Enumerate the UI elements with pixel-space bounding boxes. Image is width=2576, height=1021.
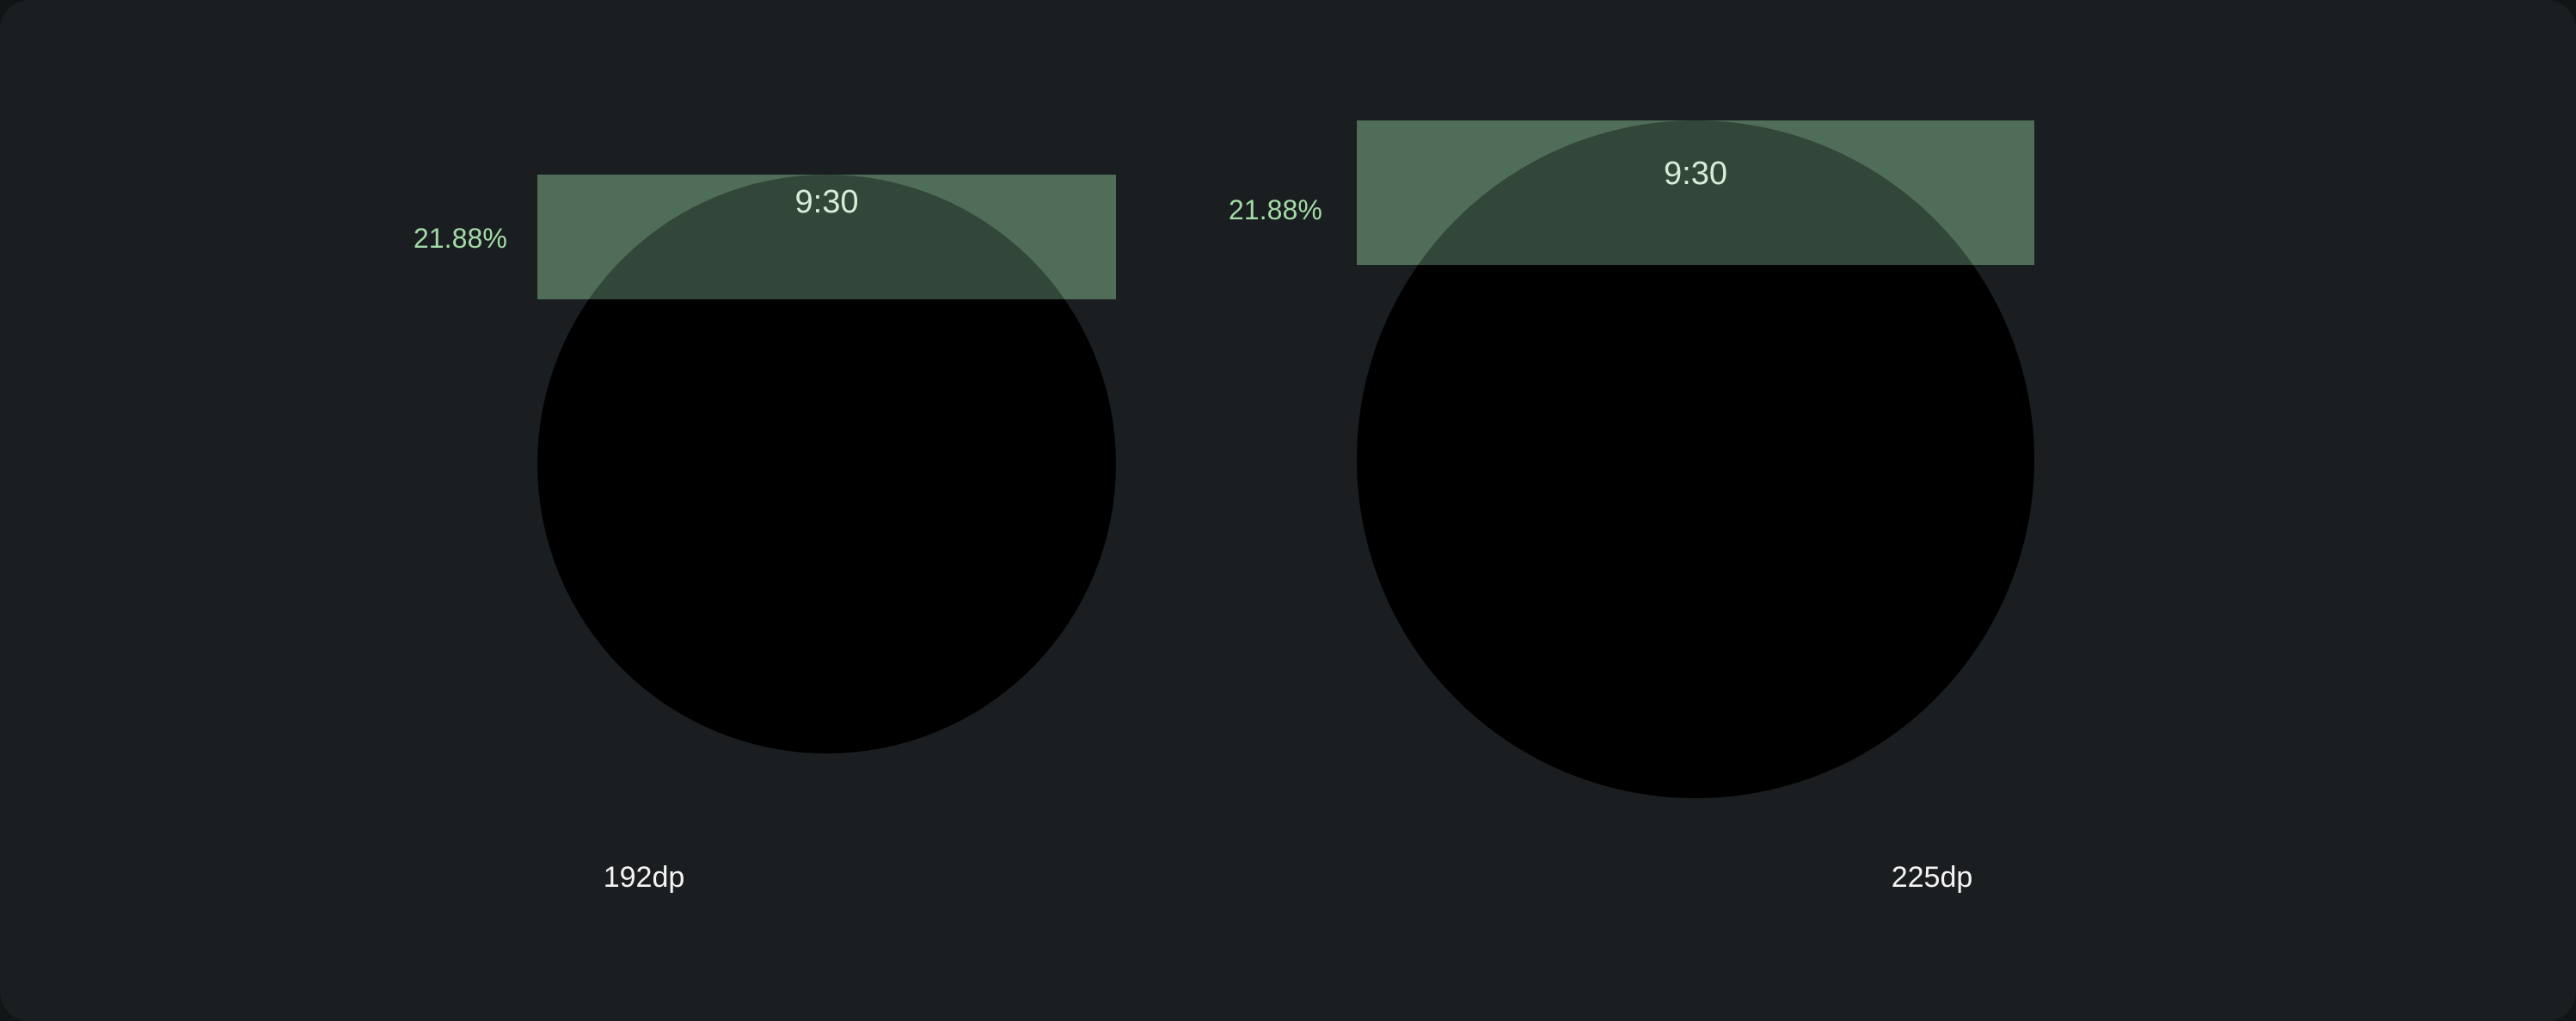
caption-192dp: 192dp <box>0 863 1288 892</box>
clock-192dp: 9:30 <box>537 186 1116 218</box>
watch-comparison-225dp: 21.88% We posted a paym- ent for your cr… <box>1288 0 2576 1021</box>
watch-comparison-192dp: 21.88% We posted a paym- ent for your cr… <box>0 0 1288 1021</box>
clock-225dp: 9:30 <box>1357 157 2034 190</box>
status-band-screen-overlap-225dp <box>1357 120 2034 265</box>
percent-label-225dp: 21.88% <box>1202 196 1322 224</box>
comparison-canvas: 21.88% We posted a paym- ent for your cr… <box>0 0 2576 1021</box>
percent-label-192dp: 21.88% <box>387 224 507 252</box>
caption-225dp: 225dp <box>1288 863 2576 892</box>
status-band-225dp <box>1357 120 2034 265</box>
